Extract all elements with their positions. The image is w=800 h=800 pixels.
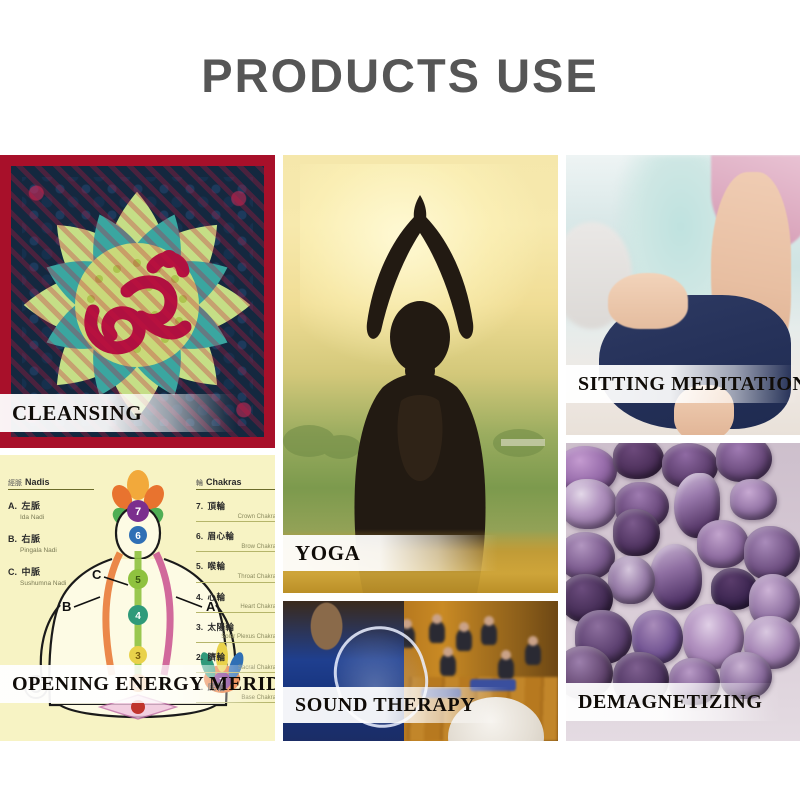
chakra-item: 5. 喉輪 Throat Chakra bbox=[196, 556, 275, 582]
seated-person bbox=[429, 621, 445, 643]
seated-person bbox=[456, 629, 472, 651]
chakra-item: 4. 心輪 Heart Chakra bbox=[196, 587, 275, 613]
nadis-legend: 經脈Nadis A. 左脈 Ida Nadi B. 右脈 Pingala Nad… bbox=[8, 477, 94, 595]
svg-text:6: 6 bbox=[135, 531, 141, 542]
panel-cleansing[interactable]: CLEANSING bbox=[0, 155, 275, 448]
chakras-heading-en: Chakras bbox=[206, 477, 242, 487]
svg-text:2: 2 bbox=[135, 679, 141, 690]
nadi-item: A. 左脈 Ida Nadi bbox=[8, 496, 94, 522]
hand-mudra bbox=[608, 273, 688, 329]
panel-sitting-meditation[interactable]: SITTING MEDITATION bbox=[566, 155, 800, 435]
svg-text:7: 7 bbox=[135, 506, 141, 518]
amethyst-stone bbox=[730, 479, 777, 521]
svg-text:4: 4 bbox=[135, 611, 141, 622]
chakras-legend: 輪Chakras 7. 頂輪 Crown Chakra 6. 眉心輪 Brow … bbox=[196, 477, 275, 707]
page-title: PRODUCTS USE bbox=[0, 0, 800, 99]
nadis-heading-en: Nadis bbox=[25, 477, 50, 487]
panel-yoga[interactable]: YOGA bbox=[283, 155, 558, 593]
chakra-item: 1. 底輪 Base Chakra bbox=[196, 677, 275, 703]
nadis-heading: 經脈Nadis bbox=[8, 477, 94, 490]
amethyst-stone bbox=[697, 520, 748, 568]
yoga-mat bbox=[470, 679, 516, 691]
chakras-heading-cn: 輪 bbox=[196, 480, 203, 487]
amethyst-stone bbox=[613, 652, 669, 706]
panel-demagnetizing[interactable]: DEMAGNETIZING bbox=[566, 443, 800, 741]
foot bbox=[674, 385, 735, 435]
amethyst-stone bbox=[650, 544, 701, 610]
seated-person bbox=[440, 654, 456, 676]
svg-text:5: 5 bbox=[135, 575, 141, 586]
panel-sound-therapy[interactable]: SOUND THERAPY bbox=[283, 601, 558, 741]
amethyst-stone bbox=[608, 556, 655, 604]
amethyst-stone bbox=[669, 658, 720, 706]
seated-person bbox=[525, 643, 541, 665]
svg-text:3: 3 bbox=[135, 651, 141, 662]
amethyst-stone bbox=[613, 509, 660, 557]
yoga-gold-band bbox=[283, 529, 558, 593]
nadis-heading-cn: 經脈 bbox=[8, 480, 22, 487]
chakra-item: 6. 眉心輪 Brow Chakra bbox=[196, 526, 275, 552]
panel-opening-energy-meridians[interactable]: 7 6 5 4 3 2 B A C bbox=[0, 455, 275, 741]
amethyst-stone bbox=[744, 526, 800, 580]
yoga-silhouette-icon bbox=[283, 155, 558, 593]
mandala-border bbox=[0, 155, 275, 448]
svg-text:B: B bbox=[62, 599, 71, 614]
chakra-item: 2. 臍輪 Sacral Chakra bbox=[196, 647, 275, 673]
chakras-heading: 輪Chakras bbox=[196, 477, 275, 490]
amethyst-stone bbox=[720, 652, 771, 700]
product-use-collage: CLEANSING bbox=[0, 155, 800, 741]
nadi-item: B. 右脈 Pingala Nadi bbox=[8, 529, 94, 555]
seated-person bbox=[498, 657, 514, 679]
nadi-item: C. 中脈 Sushumna Nadi bbox=[8, 562, 94, 588]
chakra-item: 3. 太陽輪 Solar Plexus Chakra bbox=[196, 617, 275, 643]
chakra-item: 7. 頂輪 Crown Chakra bbox=[196, 496, 275, 522]
seated-person bbox=[481, 623, 497, 645]
